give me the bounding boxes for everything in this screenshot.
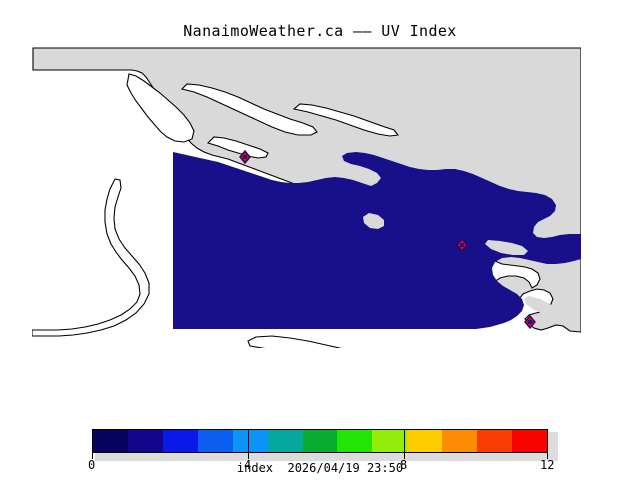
- colorbar-swatch-3[interactable]: [198, 430, 233, 452]
- colorbar-swatch-11[interactable]: [477, 430, 512, 452]
- colorbar-swatch-2[interactable]: [163, 430, 198, 452]
- colorbar-swatch-1[interactable]: [128, 430, 163, 452]
- colorbar-swatch-7[interactable]: [337, 430, 372, 452]
- colorbar-swatch-8[interactable]: [372, 430, 407, 452]
- colorbar-gradient[interactable]: [92, 429, 548, 453]
- colorbar-swatch-12[interactable]: [512, 430, 547, 452]
- colorbar-divider-4: [248, 429, 249, 453]
- colorbar-swatch-0[interactable]: [93, 430, 128, 452]
- colorbar-swatch-5[interactable]: [268, 430, 303, 452]
- colorbar-swatch-4[interactable]: [233, 430, 268, 452]
- uv-index-map[interactable]: [32, 47, 581, 348]
- colorbar-swatch-10[interactable]: [442, 430, 477, 452]
- colorbar-swatch-9[interactable]: [407, 430, 442, 452]
- uv-index-map-page: NanaimoWeather.ca —— UV Index: [0, 0, 640, 480]
- map-panel[interactable]: [32, 47, 581, 348]
- colorbar-swatch-6[interactable]: [303, 430, 338, 452]
- colorbar-caption: index 2026/04/19 23:50: [0, 461, 640, 475]
- colorbar-divider-8: [404, 429, 405, 453]
- page-title: NanaimoWeather.ca —— UV Index: [0, 22, 640, 40]
- colorbar-panel: 0 4 8 12: [92, 429, 548, 453]
- colorbar-shadow-bottom: [95, 453, 558, 461]
